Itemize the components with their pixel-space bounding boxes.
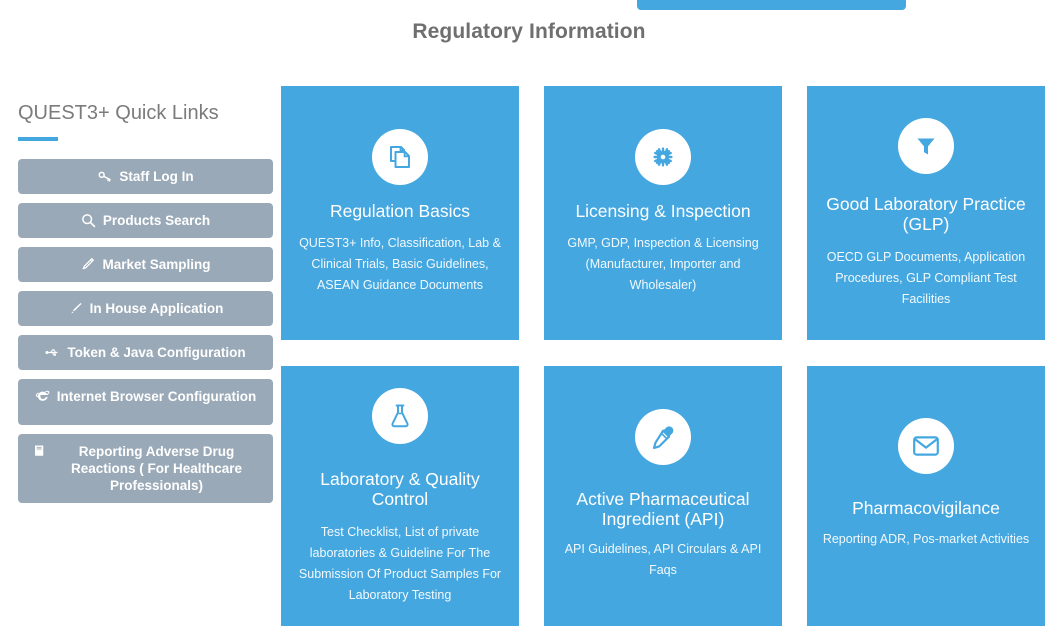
sidebar-item-token-java-configuration[interactable]: Token & Java Configuration: [18, 335, 273, 370]
card-title: Licensing & Inspection: [558, 201, 768, 221]
card-title: Regulation Basics: [295, 201, 505, 221]
sidebar-item-label: Reporting Adverse Drug Reactions ( For H…: [54, 443, 259, 494]
book-icon: [32, 443, 47, 458]
card-description: Reporting ADR, Pos-market Activities: [821, 529, 1031, 550]
card-description: Test Checklist, List of private laborato…: [295, 522, 505, 606]
search-icon: [81, 213, 96, 228]
card-good-laboratory-practice[interactable]: Good Laboratory Practice (GLP) OECD GLP …: [807, 86, 1045, 340]
card-licensing-inspection[interactable]: Licensing & Inspection GMP, GDP, Inspect…: [544, 86, 782, 340]
sidebar-item-products-search[interactable]: Products Search: [18, 203, 273, 238]
card-description: OECD GLP Documents, Application Procedur…: [821, 247, 1031, 310]
regulatory-card-grid: Regulation Basics QUEST3+ Info, Classifi…: [281, 86, 1044, 626]
internet-explorer-icon: [35, 388, 50, 403]
sidebar-accent-underline: [18, 137, 58, 141]
card-title: Laboratory & Quality Control: [295, 469, 505, 509]
sidebar-item-label: Internet Browser Configuration: [57, 388, 257, 405]
card-title: Good Laboratory Practice (GLP): [821, 194, 1031, 234]
page-title: Regulatory Information: [0, 20, 1058, 44]
envelope-icon: [898, 418, 954, 474]
sidebar-item-staff-log-in[interactable]: Staff Log In: [18, 159, 273, 194]
eyedropper-icon: [635, 409, 691, 465]
sidebar-item-internet-browser-configuration[interactable]: Internet Browser Configuration: [18, 379, 273, 425]
card-laboratory-quality-control[interactable]: Laboratory & Quality Control Test Checkl…: [281, 366, 519, 626]
brush-icon: [68, 301, 83, 316]
certificate-seal-icon: [635, 129, 691, 185]
sidebar-item-in-house-application[interactable]: In House Application: [18, 291, 273, 326]
copy-documents-icon: [372, 129, 428, 185]
sidebar-item-market-sampling[interactable]: Market Sampling: [18, 247, 273, 282]
card-pharmacovigilance[interactable]: Pharmacovigilance Reporting ADR, Pos-mar…: [807, 366, 1045, 626]
card-title: Pharmacovigilance: [821, 498, 1031, 518]
flask-icon: [372, 388, 428, 444]
sidebar: QUEST3+ Quick Links Staff Log In Product…: [18, 86, 273, 512]
page-content: QUEST3+ Quick Links Staff Log In Product…: [0, 86, 1058, 632]
sidebar-item-label: Market Sampling: [102, 256, 210, 273]
pen-icon: [80, 257, 95, 272]
sidebar-item-label: Token & Java Configuration: [67, 344, 245, 361]
sidebar-item-label: Staff Log In: [119, 168, 193, 185]
card-active-pharmaceutical-ingredient[interactable]: Active Pharmaceutical Ingredient (API) A…: [544, 366, 782, 626]
card-regulation-basics[interactable]: Regulation Basics QUEST3+ Info, Classifi…: [281, 86, 519, 340]
sidebar-item-label: Products Search: [103, 212, 210, 229]
card-description: API Guidelines, API Circulars & API Faqs: [558, 539, 768, 581]
card-title: Active Pharmaceutical Ingredient (API): [558, 489, 768, 529]
usb-plug-icon: [45, 345, 60, 360]
sidebar-item-reporting-adverse-drug-reactions[interactable]: Reporting Adverse Drug Reactions ( For H…: [18, 434, 273, 503]
sidebar-heading: QUEST3+ Quick Links: [18, 100, 273, 126]
key-icon: [97, 169, 112, 184]
sidebar-item-label: In House Application: [90, 300, 224, 317]
card-description: QUEST3+ Info, Classification, Lab & Clin…: [295, 233, 505, 296]
card-description: GMP, GDP, Inspection & Licensing (Manufa…: [558, 233, 768, 296]
filter-funnel-icon: [898, 118, 954, 174]
top-accent-bar: [637, 0, 906, 10]
